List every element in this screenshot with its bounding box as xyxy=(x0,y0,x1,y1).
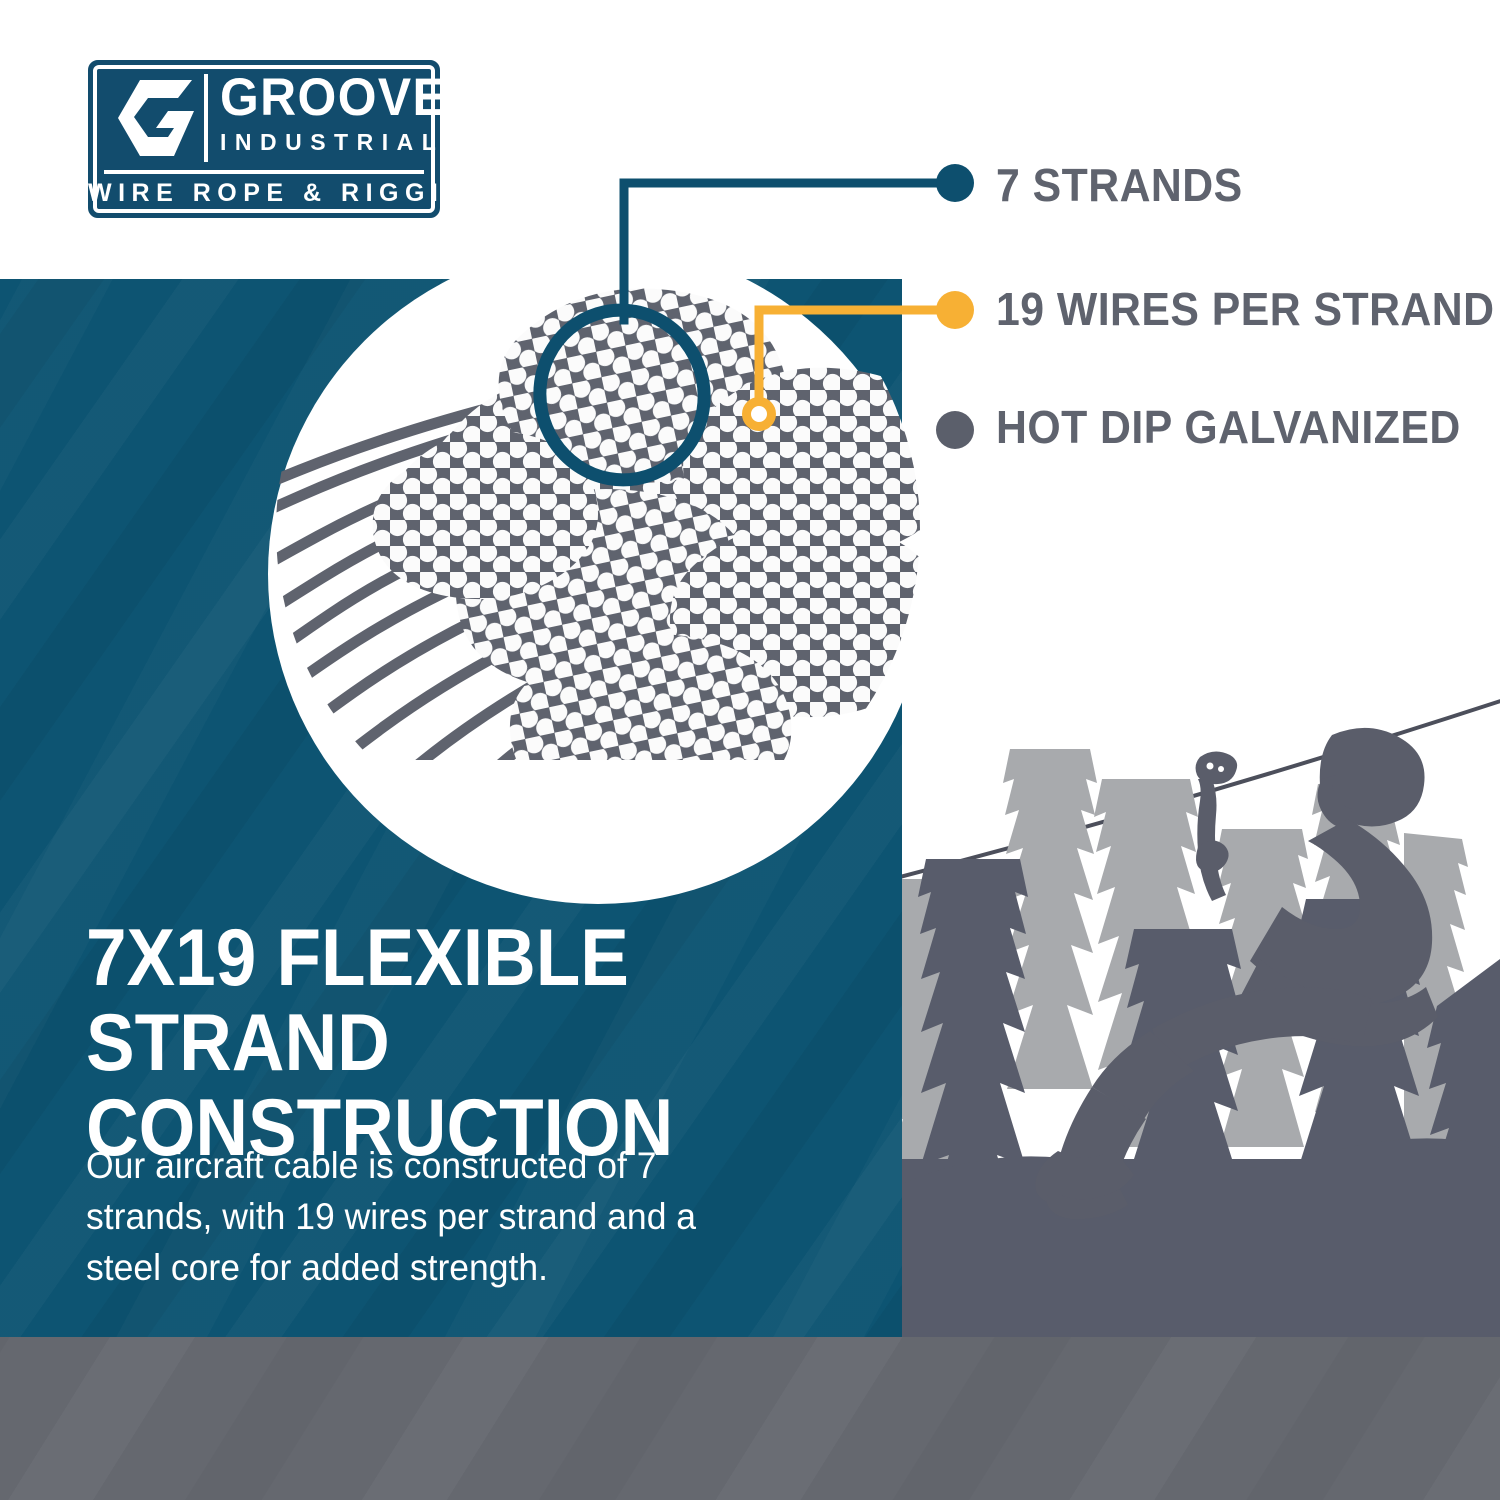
strand-group xyxy=(373,288,959,760)
body-copy: Our aircraft cable is constructed of 7 s… xyxy=(86,1140,748,1293)
footer-band-texture xyxy=(0,1337,1500,1500)
callout-label-galvanized: HOT DIP GALVANIZED xyxy=(996,404,1461,450)
leader-anchor-wires xyxy=(747,402,772,427)
leader-dot-strands xyxy=(936,164,974,202)
wire-rope-illustration xyxy=(0,0,1500,760)
infographic-canvas: GROOVE INDUSTRIAL WIRE ROPE & RIGGING 7X… xyxy=(0,0,1500,1500)
footer-band xyxy=(0,1337,1500,1500)
leader-dot-wires xyxy=(936,291,974,329)
leader-dot-galvanized xyxy=(936,411,974,449)
callout-label-wires: 19 WIRES PER STRAND xyxy=(996,286,1495,332)
rope-body xyxy=(190,288,958,760)
headline-line-1: 7X19 FLEXIBLE xyxy=(86,916,797,1001)
page-title: 7X19 FLEXIBLE STRAND CONSTRUCTION xyxy=(86,916,797,1171)
callout-label-strands: 7 STRANDS xyxy=(996,162,1243,208)
